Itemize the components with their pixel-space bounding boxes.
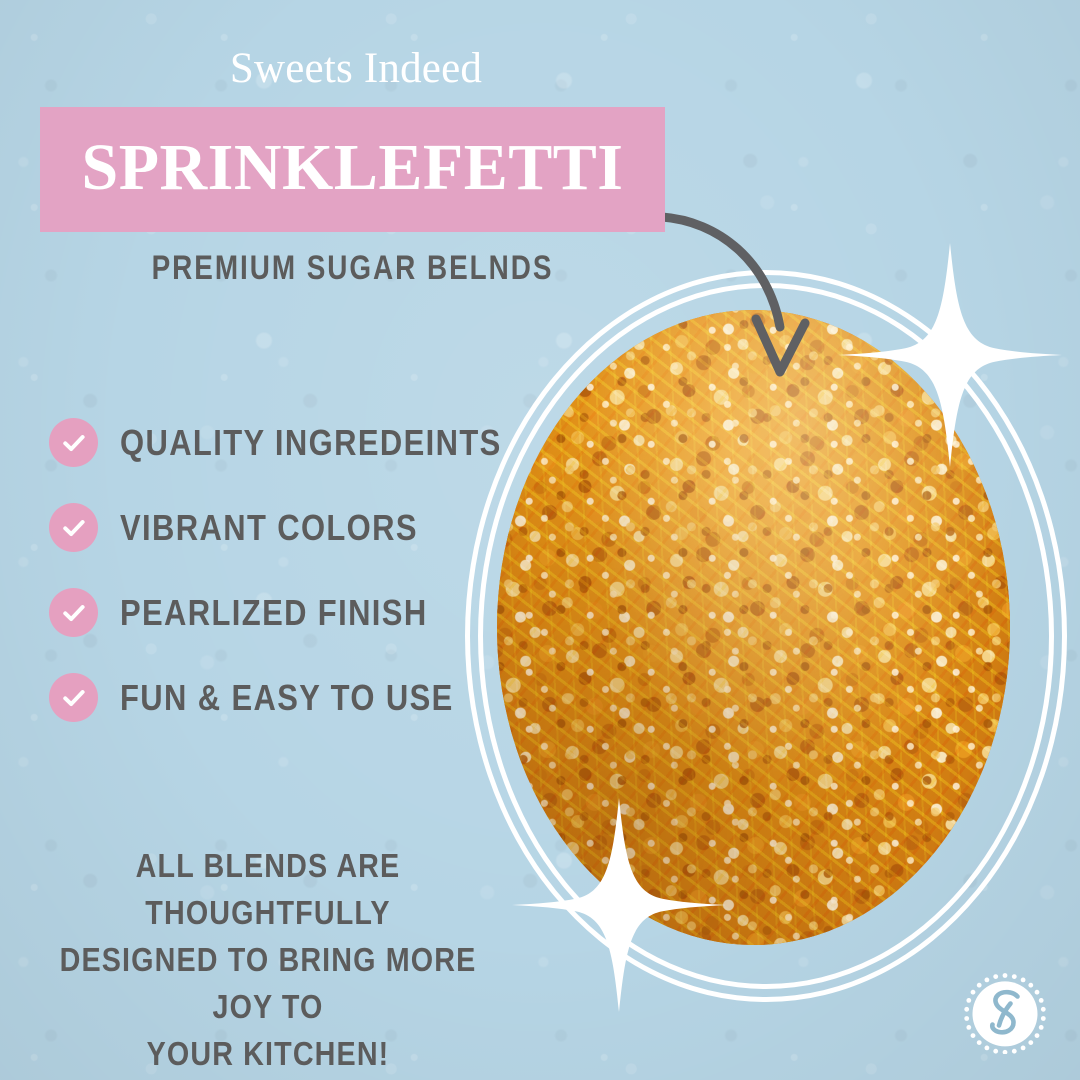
product-image-stage xyxy=(440,255,1080,1015)
product-photo-sugar xyxy=(497,310,1010,945)
feature-label: PEARLIZED FINISH xyxy=(120,595,428,631)
feature-item: PEARLIZED FINISH xyxy=(49,570,489,655)
feature-item: VIBRANT COLORS xyxy=(49,485,489,570)
tagline-line-2: DESIGNED TO BRING MORE JOY TO xyxy=(51,936,486,1030)
brand-name: Sweets Indeed xyxy=(0,47,712,90)
product-infographic: Sweets Indeed SPRINKLEFETTI PREMIUM SUGA… xyxy=(0,0,1080,1080)
product-title: SPRINKLEFETTI xyxy=(40,107,665,232)
check-icon xyxy=(49,418,98,467)
tagline-line-1: ALL BLENDS ARE THOUGHTFULLY xyxy=(51,842,486,936)
sugar-sheen-layer xyxy=(497,310,1010,945)
brand-logo xyxy=(963,970,1047,1054)
feature-item: QUALITY INGREDEINTS xyxy=(49,400,489,485)
feature-label: QUALITY INGREDEINTS xyxy=(120,425,502,461)
check-icon xyxy=(49,673,98,722)
tagline-line-3: YOUR KITCHEN! xyxy=(51,1030,486,1077)
feature-label: VIBRANT COLORS xyxy=(120,510,418,546)
product-subtitle: PREMIUM SUGAR BELNDS xyxy=(96,251,609,285)
product-title-banner: SPRINKLEFETTI xyxy=(40,107,665,232)
check-icon xyxy=(49,503,98,552)
tagline: ALL BLENDS ARE THOUGHTFULLY DESIGNED TO … xyxy=(18,842,518,1077)
feature-list: QUALITY INGREDEINTS VIBRANT COLORS PEARL… xyxy=(49,400,489,740)
check-icon xyxy=(49,588,98,637)
feature-label: FUN & EASY TO USE xyxy=(120,680,454,716)
feature-item: FUN & EASY TO USE xyxy=(49,655,489,740)
